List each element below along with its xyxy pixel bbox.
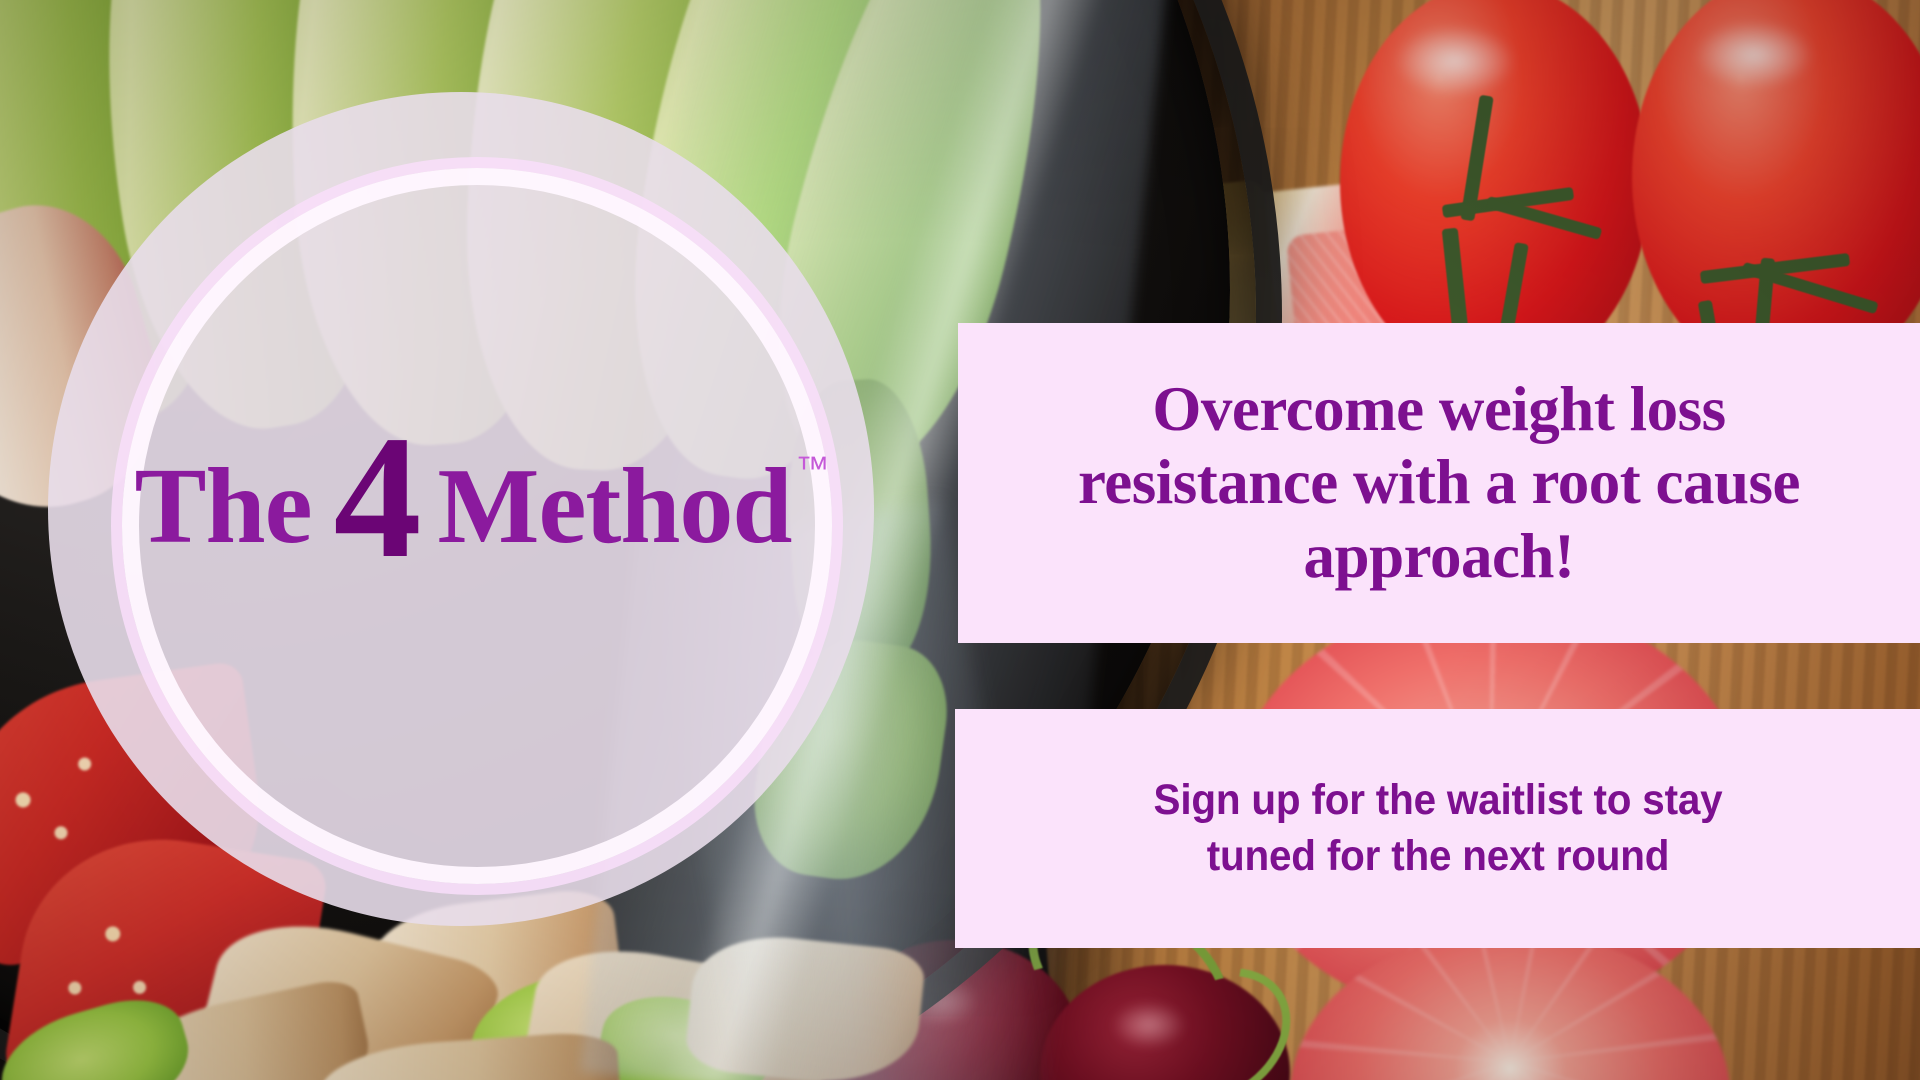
headline-line-2: resistance with a root cause bbox=[1019, 446, 1859, 519]
logo-word-the: The bbox=[134, 453, 311, 561]
cta-text: Sign up for the waitlist to stay tuned f… bbox=[1076, 773, 1800, 883]
cta-panel[interactable]: Sign up for the waitlist to stay tuned f… bbox=[955, 709, 1920, 948]
logo-numeral-four: 4 bbox=[334, 410, 422, 586]
headline-panel: Overcome weight loss resistance with a r… bbox=[958, 323, 1920, 643]
trademark-icon: ™ bbox=[796, 452, 830, 486]
brand-logo: The 4 Method ™ bbox=[40, 396, 920, 546]
headline-line-1: Overcome weight loss bbox=[1019, 373, 1859, 446]
promo-banner: The 4 Method ™ Overcome weight loss resi… bbox=[0, 0, 1920, 1080]
cta-line-2: tuned for the next round bbox=[1076, 829, 1800, 884]
logo-word-method: Method bbox=[438, 453, 792, 561]
cta-line-1: Sign up for the waitlist to stay bbox=[1076, 773, 1800, 828]
headline-line-3: approach! bbox=[1019, 520, 1859, 593]
headline-text: Overcome weight loss resistance with a r… bbox=[1019, 373, 1859, 592]
